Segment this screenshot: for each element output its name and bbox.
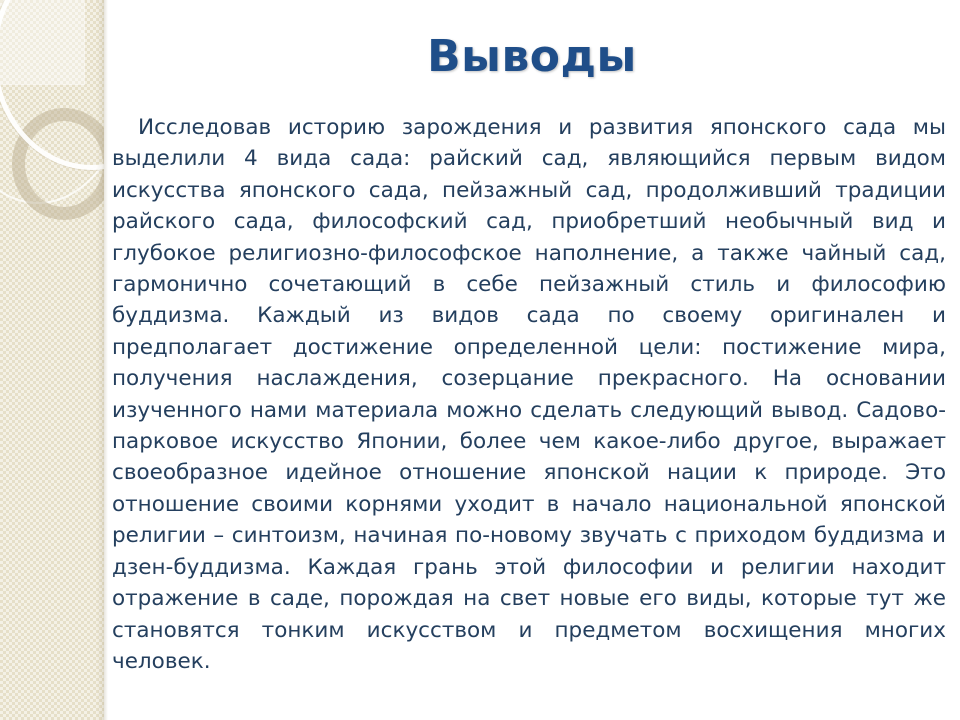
page-title: Выводы (104, 34, 960, 80)
left-decorative-band (0, 0, 104, 720)
slide-body-paragraph: Исследовав историю зарождения и развития… (112, 112, 946, 677)
slide-canvas: Выводы Исследовав историю зарождения и р… (0, 0, 960, 720)
